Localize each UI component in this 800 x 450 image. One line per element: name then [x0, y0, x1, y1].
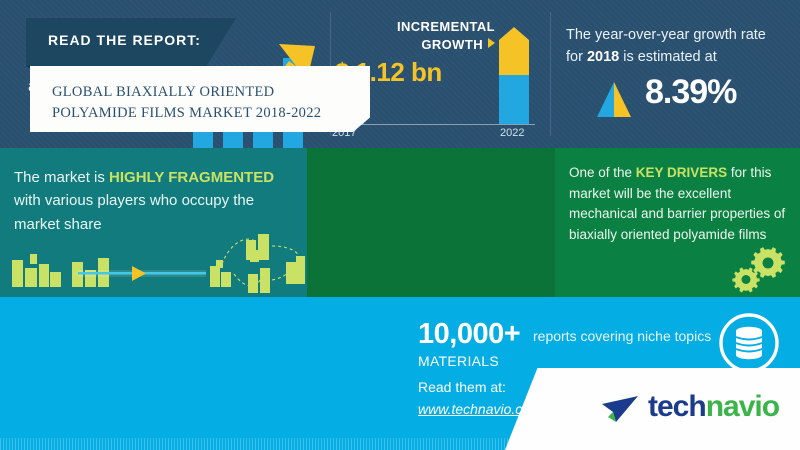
infographic-page: The market will be ACCELERATING at a CAG… [0, 0, 800, 450]
technavio-wordmark: technavio [648, 390, 779, 424]
reports-description: reports covering niche topics [533, 328, 711, 344]
growth-triangle-icon [595, 80, 633, 118]
yoy-line2-c: is estimated at [619, 49, 717, 65]
incremental-title-line2: GROWTH [421, 37, 483, 52]
panel-divider [550, 12, 551, 136]
database-cylinder [736, 327, 762, 359]
middle-section: The market is HIGHLY FRAGMENTED with var… [0, 148, 800, 297]
logo-tech: tech [648, 390, 706, 423]
yoy-year: 2018 [587, 49, 619, 65]
report-title-card[interactable]: GLOBAL BIAXIALLY ORIENTED POLYAMIDE FILM… [30, 66, 370, 132]
technavio-mark-icon [600, 392, 642, 430]
fragmented-statement: The market is HIGHLY FRAGMENTED with var… [14, 166, 304, 236]
apac-panel [307, 148, 555, 297]
read-the-report-ribbon: READ THE REPORT: [26, 18, 236, 66]
gears-icon [732, 245, 788, 293]
category-label: MATERIALS [418, 353, 499, 369]
play-triangle-icon [488, 38, 495, 48]
bar-2022-top [499, 27, 529, 75]
fragmented-panel: The market is HIGHLY FRAGMENTED with var… [0, 148, 307, 297]
yoy-statement: The year-over-year growth rate for 2018 … [566, 24, 791, 69]
read-them-at-label: Read them at: [418, 379, 506, 395]
report-title: GLOBAL BIAXIALLY ORIENTED POLYAMIDE FILM… [52, 82, 352, 124]
building-cluster-right [210, 234, 305, 293]
cityscape-illustration [0, 228, 307, 297]
key-drivers-statement: One of the KEY DRIVERS for this market w… [569, 163, 797, 245]
incremental-growth-title: INCREMENTAL GROWTH [345, 18, 495, 53]
fragmented-highlight: HIGHLY FRAGMENTED [109, 169, 274, 186]
yoy-value: 8.39% [645, 73, 736, 112]
logo-navio: navio [706, 390, 779, 423]
yoy-line1: The year-over-year growth rate [566, 27, 766, 43]
ribbon-label: READ THE REPORT: [48, 32, 201, 48]
bar-2022-bottom [499, 75, 529, 124]
logo-plane-body [602, 396, 638, 422]
database-icon [718, 312, 780, 374]
drivers-highlight: KEY DRIVERS [636, 165, 727, 180]
drivers-text-a: One of the [569, 165, 636, 180]
timeline-arrow-icon [132, 266, 146, 281]
fragmented-text-c: with various players who occupy the mark… [14, 192, 254, 232]
incremental-title-line1: INCREMENTAL [397, 19, 495, 34]
technavio-logo[interactable]: technavio [600, 388, 790, 430]
key-drivers-panel: One of the KEY DRIVERS for this market w… [555, 148, 800, 297]
fragmented-text-a: The market is [14, 169, 109, 186]
triangle-right-half [614, 82, 631, 117]
yoy-line2-a: for [566, 49, 587, 65]
bar-2022-shape [499, 27, 529, 124]
year-label-end: 2022 [500, 127, 524, 139]
reports-count: 10,000+ [418, 318, 520, 351]
triangle-left-half [597, 82, 614, 117]
